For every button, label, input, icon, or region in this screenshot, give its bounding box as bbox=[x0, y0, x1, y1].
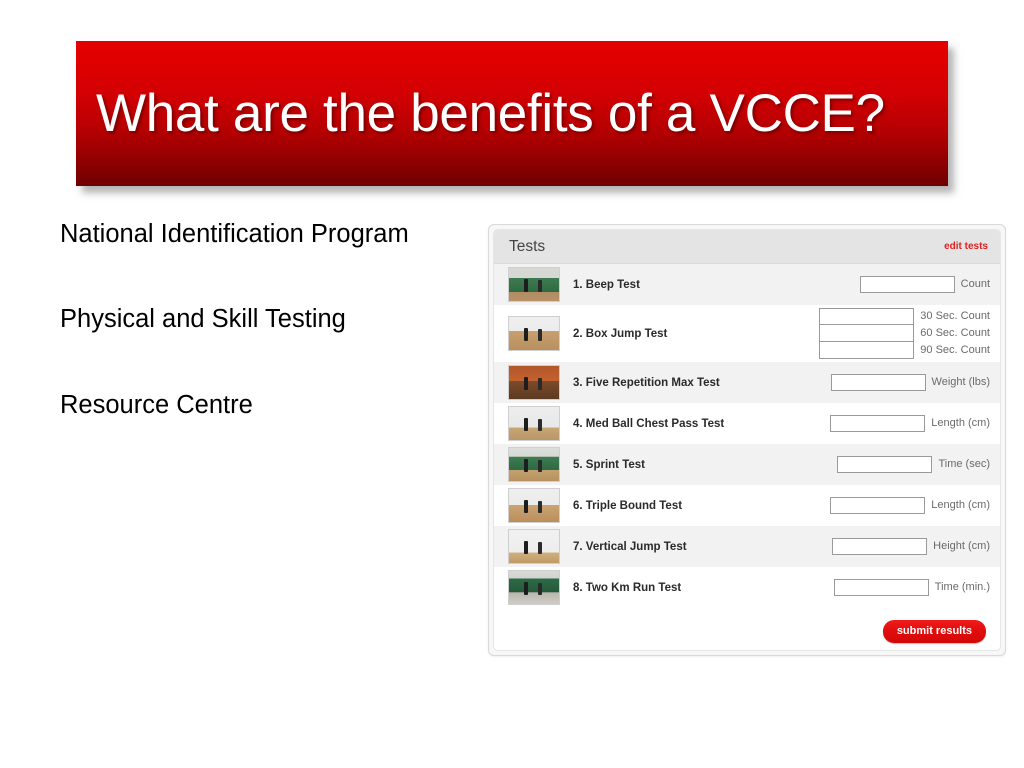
test-unit-label: 60 Sec. Count bbox=[914, 325, 990, 342]
test-field-line: Time (min.) bbox=[834, 579, 990, 596]
bullet-list: National Identification ProgramPhysical … bbox=[60, 220, 470, 420]
test-row: 7. Vertical Jump TestHeight (cm) bbox=[494, 526, 1000, 567]
test-row: 4. Med Ball Chest Pass TestLength (cm) bbox=[494, 403, 1000, 444]
test-name-label: 5. Sprint Test bbox=[560, 459, 837, 471]
test-name-label: 7. Vertical Jump Test bbox=[560, 541, 832, 553]
submit-row: submit results bbox=[494, 608, 1000, 643]
test-fields: Time (min.) bbox=[834, 579, 990, 596]
test-name-label: 3. Five Repetition Max Test bbox=[560, 377, 831, 389]
test-field-line: Length (cm) bbox=[830, 497, 990, 514]
tests-card: Tests edit tests 1. Beep TestCount2. Box… bbox=[493, 229, 1001, 651]
bullet-item: National Identification Program bbox=[60, 220, 470, 249]
test-fields: 30 Sec. Count60 Sec. Count90 Sec. Count bbox=[819, 308, 990, 359]
test-row: 6. Triple Bound TestLength (cm) bbox=[494, 485, 1000, 526]
test-row: 8. Two Km Run TestTime (min.) bbox=[494, 567, 1000, 608]
test-result-input[interactable] bbox=[831, 374, 926, 391]
tests-panel: Tests edit tests 1. Beep TestCount2. Box… bbox=[488, 224, 1006, 656]
test-unit-label: Time (sec) bbox=[932, 456, 990, 473]
test-name-label: 2. Box Jump Test bbox=[560, 328, 819, 340]
test-field-line: Count bbox=[860, 276, 990, 293]
test-unit-label: Weight (lbs) bbox=[926, 374, 990, 391]
test-unit-label: 90 Sec. Count bbox=[914, 342, 990, 359]
test-field-line: Length (cm) bbox=[830, 415, 990, 432]
test-name-label: 8. Two Km Run Test bbox=[560, 582, 834, 594]
five-repetition-max-test-thumbnail bbox=[508, 365, 560, 400]
submit-results-button[interactable]: submit results bbox=[883, 620, 986, 643]
test-field-line: 90 Sec. Count bbox=[819, 342, 990, 359]
test-fields: Height (cm) bbox=[832, 538, 990, 555]
test-result-input[interactable] bbox=[830, 497, 925, 514]
test-field-line: 30 Sec. Count bbox=[819, 308, 990, 325]
vertical-jump-test-thumbnail bbox=[508, 529, 560, 564]
test-fields: Weight (lbs) bbox=[831, 374, 990, 391]
test-fields: Length (cm) bbox=[830, 415, 990, 432]
tests-row-list: 1. Beep TestCount2. Box Jump Test30 Sec.… bbox=[494, 264, 1000, 608]
test-field-line: 60 Sec. Count bbox=[819, 325, 990, 342]
page-title: What are the benefits of a VCCE? bbox=[96, 86, 936, 142]
test-result-input[interactable] bbox=[819, 325, 914, 342]
tests-panel-header: Tests edit tests bbox=[494, 230, 1000, 264]
test-fields: Length (cm) bbox=[830, 497, 990, 514]
med-ball-chest-pass-test-thumbnail bbox=[508, 406, 560, 441]
test-unit-label: Length (cm) bbox=[925, 415, 990, 432]
test-field-line: Time (sec) bbox=[837, 456, 990, 473]
test-field-line: Weight (lbs) bbox=[831, 374, 990, 391]
test-result-input[interactable] bbox=[834, 579, 929, 596]
test-result-input[interactable] bbox=[819, 308, 914, 325]
test-unit-label: Time (min.) bbox=[929, 579, 990, 596]
test-name-label: 4. Med Ball Chest Pass Test bbox=[560, 418, 830, 430]
test-unit-label: Length (cm) bbox=[925, 497, 990, 514]
two-km-run-test-thumbnail bbox=[508, 570, 560, 605]
test-result-input[interactable] bbox=[819, 342, 914, 359]
sprint-test-thumbnail bbox=[508, 447, 560, 482]
beep-test-thumbnail bbox=[508, 267, 560, 302]
test-unit-label: Count bbox=[955, 276, 990, 293]
slide-title-banner: What are the benefits of a VCCE? bbox=[76, 41, 948, 186]
test-fields: Time (sec) bbox=[837, 456, 990, 473]
test-result-input[interactable] bbox=[830, 415, 925, 432]
bullet-item: Physical and Skill Testing bbox=[60, 305, 470, 334]
test-row: 2. Box Jump Test30 Sec. Count60 Sec. Cou… bbox=[494, 305, 1000, 362]
triple-bound-test-thumbnail bbox=[508, 488, 560, 523]
test-result-input[interactable] bbox=[837, 456, 932, 473]
test-name-label: 1. Beep Test bbox=[560, 279, 860, 291]
test-unit-label: 30 Sec. Count bbox=[914, 308, 990, 325]
test-unit-label: Height (cm) bbox=[927, 538, 990, 555]
bullet-item: Resource Centre bbox=[60, 391, 470, 420]
test-row: 1. Beep TestCount bbox=[494, 264, 1000, 305]
test-result-input[interactable] bbox=[832, 538, 927, 555]
test-result-input[interactable] bbox=[860, 276, 955, 293]
edit-tests-link[interactable]: edit tests bbox=[944, 241, 988, 252]
test-fields: Count bbox=[860, 276, 990, 293]
tests-header-title: Tests bbox=[509, 238, 545, 256]
test-name-label: 6. Triple Bound Test bbox=[560, 500, 830, 512]
test-row: 5. Sprint TestTime (sec) bbox=[494, 444, 1000, 485]
test-row: 3. Five Repetition Max TestWeight (lbs) bbox=[494, 362, 1000, 403]
test-field-line: Height (cm) bbox=[832, 538, 990, 555]
box-jump-test-thumbnail bbox=[508, 316, 560, 351]
